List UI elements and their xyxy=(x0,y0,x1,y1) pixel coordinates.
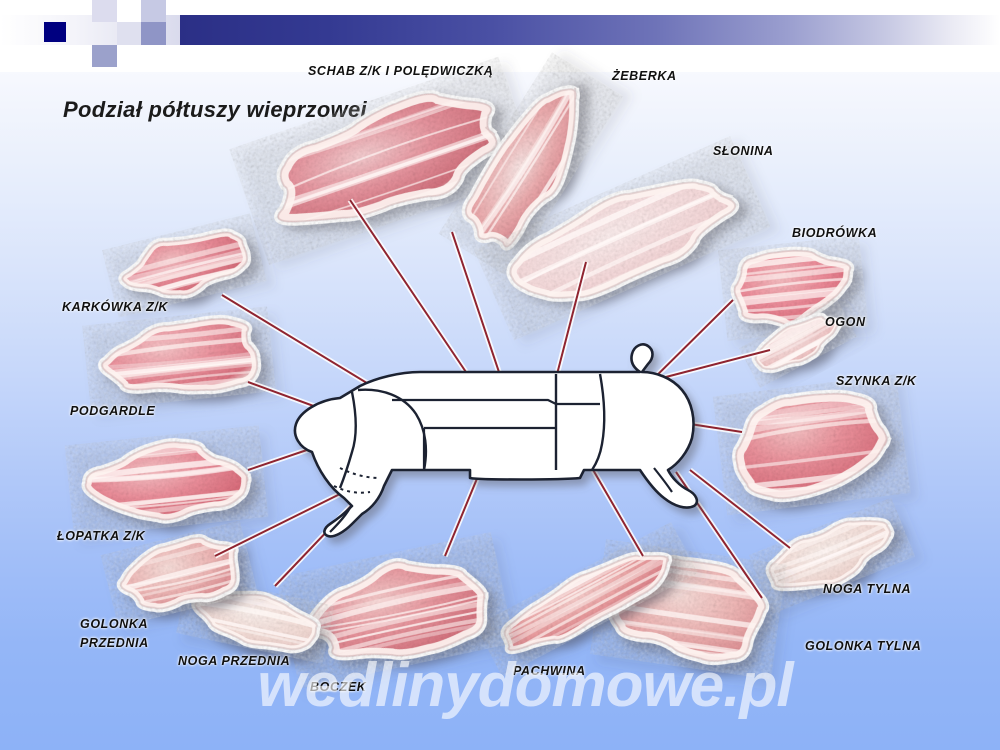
label-lopatka: ŁOPATKA Z/K xyxy=(57,527,145,546)
cut-podgardle-white-border xyxy=(98,315,259,401)
cut-pachwina-white-border xyxy=(494,535,679,663)
cut-golonka-tylna-flesh xyxy=(607,551,770,667)
cut-pachwina-marbling xyxy=(494,535,679,663)
pig-shoulder-line xyxy=(358,390,426,470)
cut-zeberka-edge-shade xyxy=(454,71,607,258)
cut-golonka-tylna-marbling xyxy=(606,551,774,668)
label-golonka-tylna: GOLONKA TYLNA xyxy=(805,637,921,656)
pig-loin-line xyxy=(392,400,600,404)
line-noga-przednia xyxy=(275,505,352,586)
cut-karkowka-white-border xyxy=(116,222,253,308)
cut-lopatka-flesh xyxy=(82,435,251,528)
cut-podgardle xyxy=(98,314,272,401)
label-noga-tylna: NOGA TYLNA xyxy=(823,580,911,599)
cut-slonina-flesh xyxy=(499,153,746,323)
cut-karkowka-flesh xyxy=(116,222,253,308)
line-noga-przednia-halo xyxy=(275,505,352,586)
line-pachwina xyxy=(585,456,643,556)
header-square-2 xyxy=(117,0,141,22)
label-podgardle: PODGARDLE xyxy=(70,402,155,421)
cut-podgardle-edge-shade xyxy=(98,315,259,401)
cut-slonina-edge-shade xyxy=(499,153,746,323)
line-lopatka xyxy=(248,430,366,470)
cut-szynka-marbling xyxy=(724,386,899,505)
label-slonina: SŁONINA xyxy=(713,142,773,161)
line-schab xyxy=(350,200,470,378)
pig-front-leg-dotted-line xyxy=(340,468,380,478)
label-ogon: OGON xyxy=(825,313,866,332)
line-golonka-tylna-halo xyxy=(676,472,762,598)
line-podgardle-halo xyxy=(248,382,330,412)
label-karkowka: KARKÓWKA Z/K xyxy=(62,298,168,317)
pig-rear-hock-line xyxy=(654,468,672,492)
cut-zeberka xyxy=(446,69,608,270)
line-schab-halo xyxy=(350,200,470,378)
header-band xyxy=(0,0,1000,72)
pig-front-trotter xyxy=(330,508,350,532)
line-ogon xyxy=(662,350,770,378)
cut-noga-przednia-marbling xyxy=(190,582,322,656)
cut-karkowka-edge-shade xyxy=(116,222,253,308)
line-szynka xyxy=(664,420,742,432)
pig-head-line xyxy=(340,392,356,488)
cut-boczek-white-border xyxy=(296,545,494,675)
line-noga-tylna xyxy=(690,470,790,548)
cut-noga-przednia xyxy=(190,582,322,656)
line-boczek xyxy=(445,452,488,556)
line-golonka-przednia xyxy=(215,490,348,556)
header-square-3 xyxy=(141,0,166,22)
cut-zeberka-white-border xyxy=(454,71,607,258)
line-karkowka xyxy=(222,295,385,394)
label-pachwina: PACHWINA xyxy=(513,662,586,681)
cut-noga-przednia-white-border xyxy=(190,582,322,656)
cut-szynka-white-border xyxy=(730,386,894,503)
line-golonka-tylna xyxy=(676,472,762,598)
cut-pachwina-flesh xyxy=(494,535,679,663)
header-gradient-bar xyxy=(180,15,1000,45)
header-square-4 xyxy=(141,22,166,45)
cut-szynka-edge-shade xyxy=(730,386,894,503)
line-ogon-halo xyxy=(662,350,770,378)
label-zeberka: ŻEBERKA xyxy=(612,67,677,86)
pig-rump-line xyxy=(592,374,604,470)
cut-lopatka-white-border xyxy=(82,435,251,528)
cut-boczek-flesh xyxy=(296,545,494,675)
cut-slonina-marbling xyxy=(489,147,760,328)
cut-noga-przednia-edge-shade xyxy=(190,582,322,656)
header-square-5 xyxy=(117,22,141,45)
line-noga-tylna-halo xyxy=(690,470,790,548)
cut-karkowka-marbling xyxy=(116,222,253,308)
line-zeberka-halo xyxy=(452,232,505,390)
line-lopatka-halo xyxy=(248,430,366,470)
header-square-1 xyxy=(92,0,117,22)
header-square-7 xyxy=(117,45,141,67)
cut-pachwina xyxy=(494,535,679,663)
pig-body-outline xyxy=(295,344,697,536)
cut-boczek-edge-shade xyxy=(296,545,494,675)
cut-lopatka xyxy=(82,435,251,528)
label-golonka-przednia: GOLONKA PRZEDNIA xyxy=(80,615,149,653)
line-slonina-halo xyxy=(555,262,586,382)
line-podgardle xyxy=(248,382,330,412)
cut-slonina-white-border xyxy=(499,153,746,323)
cut-szynka-flesh xyxy=(730,386,894,503)
label-boczek: BOCZEK xyxy=(310,678,366,697)
cut-szynka xyxy=(724,386,899,505)
line-karkowka-halo xyxy=(222,295,385,394)
cut-podgardle-flesh xyxy=(98,315,259,401)
line-szynka-halo xyxy=(664,420,742,432)
cut-boczek xyxy=(294,543,505,676)
page-title: Podział półtuszy wieprzowej xyxy=(63,97,367,123)
line-biodrowka xyxy=(632,300,733,400)
line-golonka-przednia-halo xyxy=(215,490,348,556)
line-biodrowka-halo xyxy=(632,300,733,400)
cut-golonka-tylna xyxy=(606,551,774,668)
header-square-0 xyxy=(44,22,66,42)
cut-slonina xyxy=(489,147,760,328)
cut-podgardle-marbling xyxy=(98,314,272,401)
cut-lopatka-edge-shade xyxy=(82,435,251,528)
cut-pachwina-edge-shade xyxy=(494,535,679,663)
cut-boczek-marbling xyxy=(294,543,505,676)
line-zeberka xyxy=(452,232,505,390)
header-square-6 xyxy=(92,45,117,67)
cut-golonka-tylna-edge-shade xyxy=(607,551,770,667)
cut-lopatka-marbling xyxy=(82,435,251,528)
label-biodrowka: BIODRÓWKA xyxy=(792,224,877,243)
cut-noga-przednia-flesh xyxy=(190,582,322,656)
line-pachwina-halo xyxy=(585,456,643,556)
line-boczek-halo xyxy=(445,452,488,556)
cut-karkowka xyxy=(116,222,253,308)
line-slonina xyxy=(555,262,586,382)
label-szynka: SZYNKA Z/K xyxy=(836,372,917,391)
cut-golonka-tylna-white-border xyxy=(607,551,770,667)
label-noga-przednia: NOGA PRZEDNIA xyxy=(178,652,290,671)
label-schab: SCHAB Z/K I POLĘDWICZKĄ xyxy=(308,62,493,81)
pig-front-hock-dotted-line xyxy=(334,486,370,493)
cut-zeberka-marbling xyxy=(446,69,608,270)
cut-zeberka-flesh xyxy=(454,71,607,258)
slide-root: Podział półtuszy wieprzowej xyxy=(0,0,1000,750)
